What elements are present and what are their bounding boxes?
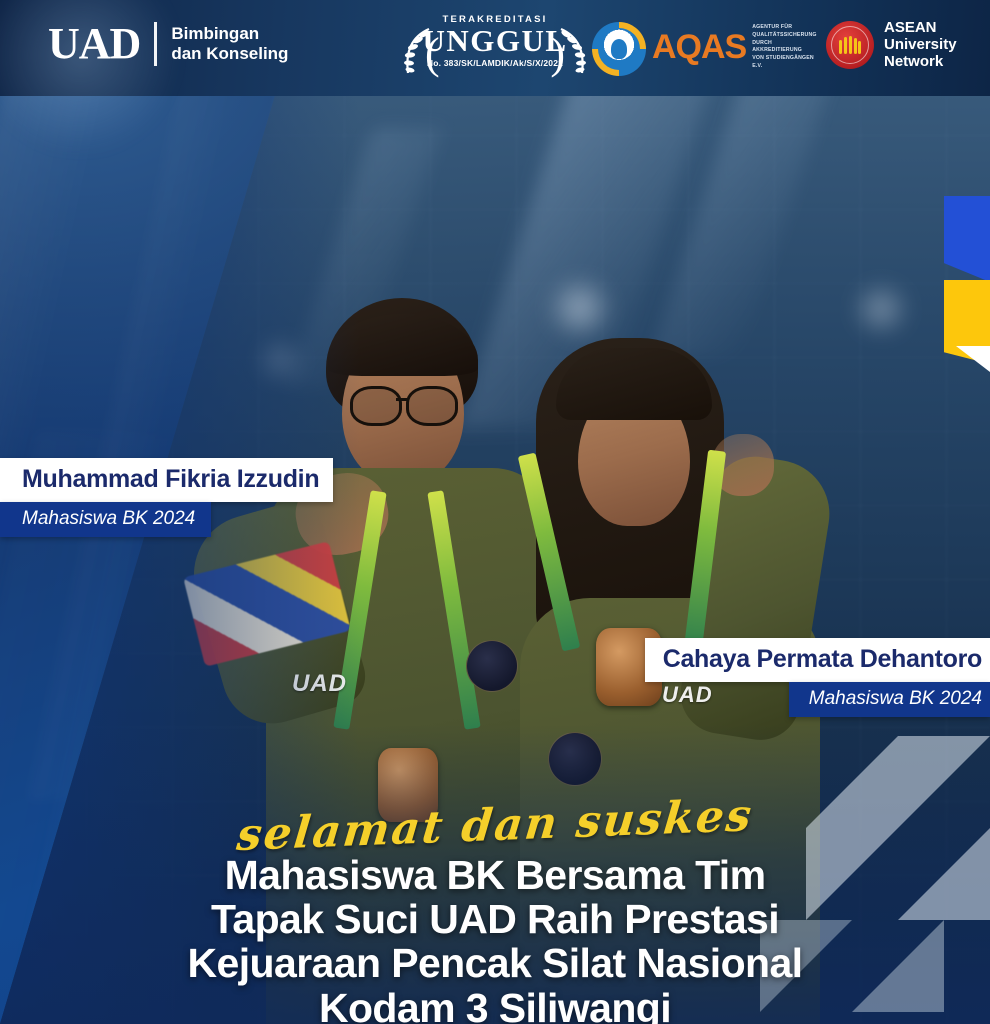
asean-emblem-icon	[826, 21, 874, 69]
bracket-left: (	[425, 28, 440, 79]
uad-department-line2: dan Konseling	[171, 44, 288, 64]
uad-wordmark: UAD	[48, 22, 140, 66]
name-label-right-row: Cahaya Permata Dehantoro	[645, 638, 990, 682]
asean-line2: University	[884, 37, 957, 54]
asean-line1: ASEAN	[884, 20, 957, 37]
chevron-decoration	[934, 196, 990, 360]
asean-rice-stalks-icon	[839, 36, 861, 54]
poster-canvas: UAD UAD	[0, 0, 990, 1024]
chevron-blue	[944, 196, 990, 282]
headline-text: Mahasiswa BK Bersama Tim Tapak Suci UAD …	[0, 853, 990, 1024]
name-label-right: Cahaya Permata Dehantoro Mahasiswa BK 20…	[645, 638, 990, 717]
logo-divider	[154, 22, 157, 66]
aqas-wordmark: AQAS	[652, 30, 746, 64]
diktisaintek-figure-icon	[611, 39, 627, 59]
person-right-name: Cahaya Permata Dehantoro	[645, 638, 990, 682]
venue-light-glow	[846, 284, 916, 334]
header-bar: UAD Bimbingan dan Konseling	[0, 0, 990, 96]
aqas-logo: AQAS AGENTUR FÜR QUALITÄTSSICHERUNG DURC…	[652, 24, 814, 71]
accreditation-badge: ( ) TERAKREDITASI UNGGUL No. 383/SK/LAMD…	[395, 12, 595, 84]
asean-university-network-logo: ASEAN University Network	[826, 20, 957, 70]
name-label-left-subrow: Mahasiswa BK 2024	[0, 502, 333, 537]
headline-block: selamat dan suskes Mahasiswa BK Bersama …	[0, 800, 990, 1024]
headline-line-2: Tapak Suci UAD Raih Prestasi	[40, 897, 950, 941]
person-left-role: Mahasiswa BK 2024	[0, 502, 211, 537]
glasses-bridge	[396, 398, 408, 401]
name-label-right-subrow: Mahasiswa BK 2024	[645, 682, 990, 717]
person-right-role: Mahasiswa BK 2024	[789, 682, 990, 717]
hijab-front	[556, 348, 712, 420]
asean-label: ASEAN University Network	[884, 20, 957, 70]
name-label-left-row: Muhammad Fikria Izzudin	[0, 458, 333, 502]
uad-logo: UAD Bimbingan dan Konseling	[48, 22, 288, 66]
uad-department-line1: Bimbingan	[171, 24, 288, 44]
person-left-name: Muhammad Fikria Izzudin	[0, 458, 333, 502]
bracket-right: )	[550, 28, 565, 79]
headline-line-4: Kodam 3 Siliwangi	[40, 986, 950, 1024]
glasses-right-lens	[406, 386, 458, 426]
uad-department-label: Bimbingan dan Konseling	[171, 24, 288, 63]
headline-line-3: Kejuaraan Pencak Silat Nasional	[40, 941, 950, 985]
aqas-subtitle: AGENTUR FÜR QUALITÄTSSICHERUNG DURCH AKK…	[752, 24, 814, 71]
name-label-left: Muhammad Fikria Izzudin Mahasiswa BK 202…	[0, 458, 333, 537]
asean-line3: Network	[884, 54, 957, 71]
diktisaintek-logo	[592, 22, 646, 76]
diktisaintek-inner	[598, 28, 640, 70]
